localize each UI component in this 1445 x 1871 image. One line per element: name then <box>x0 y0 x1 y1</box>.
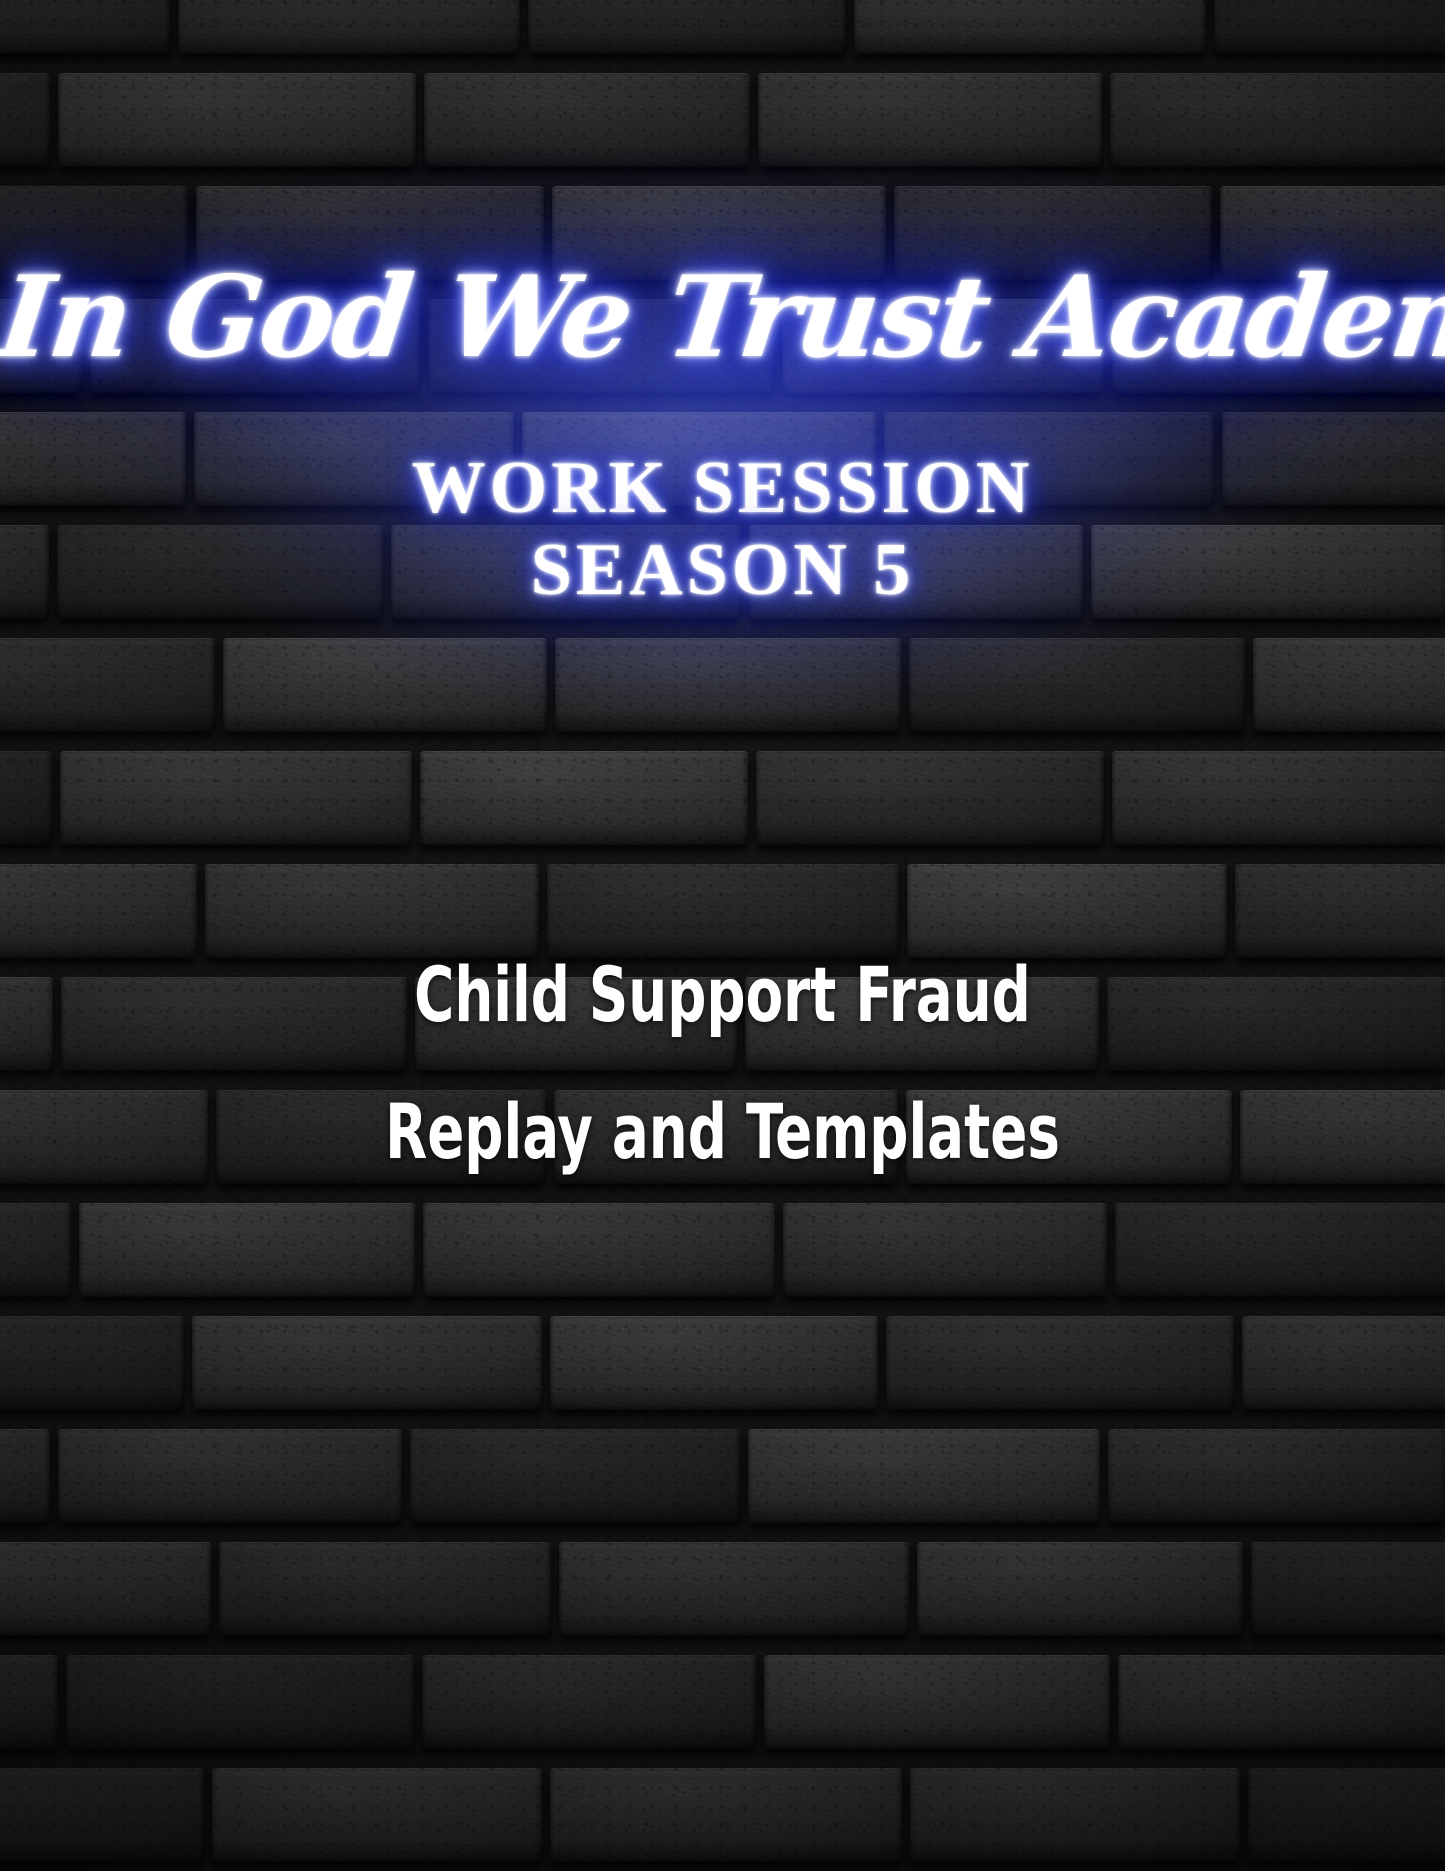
work-session-heading: WORK SESSION <box>0 451 1445 525</box>
subtitle-line-1: Child Support Fraud <box>145 957 1301 1033</box>
season-heading: SEASON 5 <box>0 533 1445 607</box>
poster-canvas: In God We Trust Academy WORK SESSION SEA… <box>0 0 1445 1871</box>
academy-title: In God We Trust Academy <box>0 262 1445 374</box>
subtitle-line-2: Replay and Templates <box>145 1094 1301 1170</box>
